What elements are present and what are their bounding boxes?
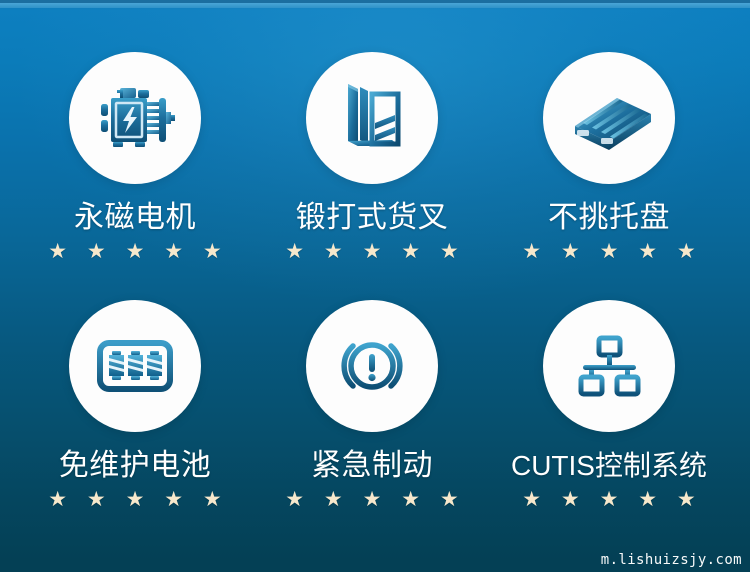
pallet-icon: [559, 68, 659, 168]
feature-label: 免维护电池: [15, 449, 255, 483]
icon-disc: [306, 52, 438, 184]
rating-stars: ★ ★ ★ ★ ★: [252, 241, 492, 263]
feature-grid: 永磁电机 ★ ★ ★ ★ ★: [0, 0, 750, 578]
electric-motor-icon: [87, 70, 183, 166]
feature-item-emergency-brake: 紧急制动 ★ ★ ★ ★ ★: [252, 300, 492, 511]
icon-disc: [306, 300, 438, 432]
feature-item-forged-fork: 锻打式货叉 ★ ★ ★ ★ ★: [252, 52, 492, 263]
bottom-white-band: [0, 572, 750, 578]
feature-item-pallet: 不挑托盘 ★ ★ ★ ★ ★: [489, 52, 729, 263]
forged-fork-icon: [324, 70, 420, 166]
icon-disc: [69, 52, 201, 184]
icon-disc: [543, 52, 675, 184]
icon-disc: [69, 300, 201, 432]
control-network-icon: [561, 318, 657, 414]
feature-item-battery: 免维护电池 ★ ★ ★ ★ ★: [15, 300, 255, 511]
rating-stars: ★ ★ ★ ★ ★: [15, 489, 255, 511]
feature-item-control-system: CUTIS控制系统 ★ ★ ★ ★ ★: [489, 300, 729, 511]
feature-label: 不挑托盘: [489, 201, 729, 235]
icon-disc: [543, 300, 675, 432]
battery-cells-icon: [87, 318, 183, 414]
brake-warning-icon: [324, 318, 420, 414]
feature-poster: 永磁电机 ★ ★ ★ ★ ★: [0, 0, 750, 578]
feature-item-electric-motor: 永磁电机 ★ ★ ★ ★ ★: [15, 52, 255, 263]
feature-label: 锻打式货叉: [252, 201, 492, 235]
feature-label: CUTIS控制系统: [489, 449, 729, 483]
feature-label: 永磁电机: [15, 201, 255, 235]
rating-stars: ★ ★ ★ ★ ★: [252, 489, 492, 511]
rating-stars: ★ ★ ★ ★ ★: [15, 241, 255, 263]
site-watermark: m.lishuizsjy.com: [601, 552, 742, 568]
rating-stars: ★ ★ ★ ★ ★: [489, 241, 729, 263]
rating-stars: ★ ★ ★ ★ ★: [489, 489, 729, 511]
feature-label: 紧急制动: [252, 449, 492, 483]
